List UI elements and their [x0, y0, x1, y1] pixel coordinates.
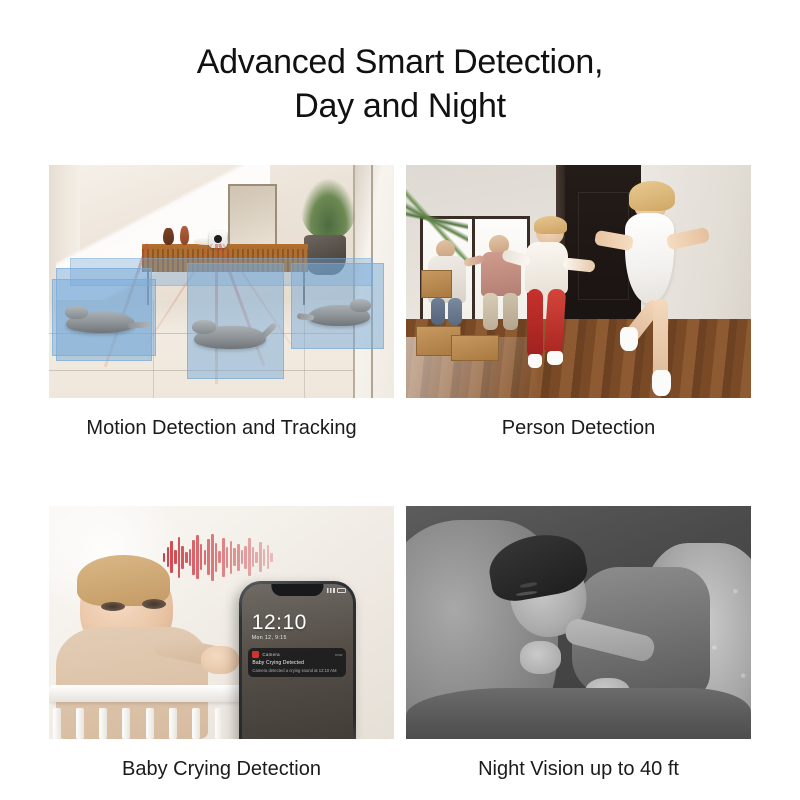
waveform-bar: [189, 549, 192, 566]
waveform-bar: [163, 553, 166, 562]
hair: [534, 216, 567, 234]
waveform-bar: [192, 540, 195, 575]
vase-tall: [163, 228, 174, 245]
leg: [483, 293, 498, 330]
notification-body: Camera detected a crying sound at 12:10 …: [252, 668, 342, 673]
baby-crying-detection-image: 12:10 Mon 12, 9:15 Camera now Baby Cryin…: [49, 506, 394, 739]
feature-caption: Motion Detection and Tracking: [49, 398, 394, 441]
leg: [448, 298, 462, 325]
waveform-bar: [241, 550, 244, 564]
person-detection-image: [406, 165, 751, 398]
waveform-bar: [252, 547, 255, 567]
crib-slat: [169, 708, 177, 739]
waveform-bar: [196, 535, 199, 579]
waveform-bar: [233, 548, 236, 566]
plant-foliage: [301, 179, 356, 240]
crib-slat: [99, 708, 107, 739]
waveform-bar: [200, 544, 203, 570]
notification-title: Baby Crying Detected: [252, 660, 342, 666]
cat-head: [65, 306, 88, 319]
lockscreen-time: 12:10: [252, 612, 307, 634]
sock: [620, 327, 638, 351]
feature-grid-page: Advanced Smart Detection, Day and Night: [0, 0, 800, 800]
standing-leg: [653, 299, 668, 380]
waveform-bar: [259, 542, 262, 572]
dress: [625, 213, 674, 303]
camera-app-icon: [252, 651, 259, 658]
smartphone[interactable]: 12:10 Mon 12, 9:15 Camera now Baby Cryin…: [239, 581, 356, 739]
baby-eye: [101, 602, 125, 612]
crib: [49, 636, 242, 739]
cat: [66, 312, 135, 333]
leg: [431, 298, 445, 325]
features-grid: Motion Detection and Tracking: [49, 165, 751, 782]
waveform-bar: [215, 543, 218, 572]
feature-caption: Person Detection: [406, 398, 751, 441]
picture-frame: [228, 184, 276, 247]
waveform-bar: [237, 544, 240, 571]
waveform-bar: [170, 541, 173, 573]
trouser-leg: [527, 289, 544, 357]
vase-slim: [180, 226, 189, 246]
motion-detection-image: [49, 165, 394, 398]
head: [436, 240, 455, 258]
waveform-bar: [211, 534, 214, 581]
moving-box: [421, 270, 452, 299]
lockscreen-date: Mon 12, 9:15: [252, 635, 287, 641]
feature-card-motion-detection[interactable]: Motion Detection and Tracking: [49, 165, 394, 441]
push-notification[interactable]: Camera now Baby Crying Detected Camera d…: [248, 648, 346, 677]
trouser-leg: [544, 289, 566, 355]
notification-timestamp: now: [335, 652, 342, 657]
child-right: [599, 181, 716, 395]
waveform-bar: [181, 546, 184, 569]
notification-app-name: Camera: [262, 652, 279, 657]
adult-woman: [427, 240, 468, 324]
hair: [629, 181, 676, 211]
crib-slat: [76, 708, 84, 739]
waveform-bar: [255, 552, 258, 563]
waveform-bar: [207, 539, 210, 575]
child-hand: [520, 641, 561, 674]
sweater: [525, 242, 568, 294]
crib-slat: [192, 708, 200, 739]
child-left: [520, 219, 589, 373]
cat: [308, 305, 370, 326]
cat-head: [350, 299, 371, 312]
crib-slat: [53, 708, 61, 739]
phone-screen[interactable]: 12:10 Mon 12, 9:15 Camera now Baby Cryin…: [242, 584, 353, 739]
page-title-line-1: Advanced Smart Detection,: [197, 43, 603, 81]
baby-eye: [142, 599, 166, 609]
feature-card-baby-crying-detection[interactable]: 12:10 Mon 12, 9:15 Camera now Baby Cryin…: [49, 506, 394, 782]
waveform-bar: [230, 541, 233, 574]
adult-man: [478, 235, 523, 328]
night-vision-image: [406, 506, 751, 739]
waveform-bar: [263, 549, 266, 566]
cat: [194, 326, 266, 349]
waveform-bar: [267, 545, 270, 569]
feature-caption: Night Vision up to 40 ft: [406, 739, 751, 782]
waveform-bar: [167, 547, 170, 567]
sound-waveform: [163, 534, 273, 581]
waveform-bar: [244, 546, 247, 569]
page-title: Advanced Smart Detection, Day and Night: [0, 40, 800, 128]
detection-zone: [70, 258, 374, 286]
waveform-bar: [218, 551, 221, 563]
waveform-bar: [204, 550, 207, 565]
blanket: [406, 688, 751, 739]
feature-card-person-detection[interactable]: Person Detection: [406, 165, 751, 441]
page-title-line-2: Day and Night: [0, 84, 800, 128]
feature-caption: Baby Crying Detection: [49, 739, 394, 782]
crib-slat: [215, 708, 223, 739]
waveform-bar: [248, 538, 251, 576]
waveform-bar: [185, 552, 188, 563]
leg: [503, 293, 518, 330]
shoe: [528, 354, 542, 368]
sock: [652, 370, 671, 396]
crib-slat: [146, 708, 154, 739]
waveform-bar: [174, 550, 177, 564]
phone-status-bar: [327, 588, 346, 593]
phone-notch: [272, 584, 323, 597]
crib-slat: [122, 708, 130, 739]
moving-box: [451, 335, 499, 361]
notification-header: Camera now: [252, 651, 342, 658]
cat-head: [192, 320, 217, 334]
waveform-bar: [226, 547, 229, 568]
signal-icon: [327, 588, 335, 593]
shoe: [547, 351, 562, 365]
waveform-bar: [222, 538, 225, 577]
feature-card-night-vision[interactable]: Night Vision up to 40 ft: [406, 506, 751, 782]
waveform-bar: [178, 537, 181, 578]
battery-icon: [337, 588, 346, 593]
waveform-bar: [270, 553, 273, 562]
